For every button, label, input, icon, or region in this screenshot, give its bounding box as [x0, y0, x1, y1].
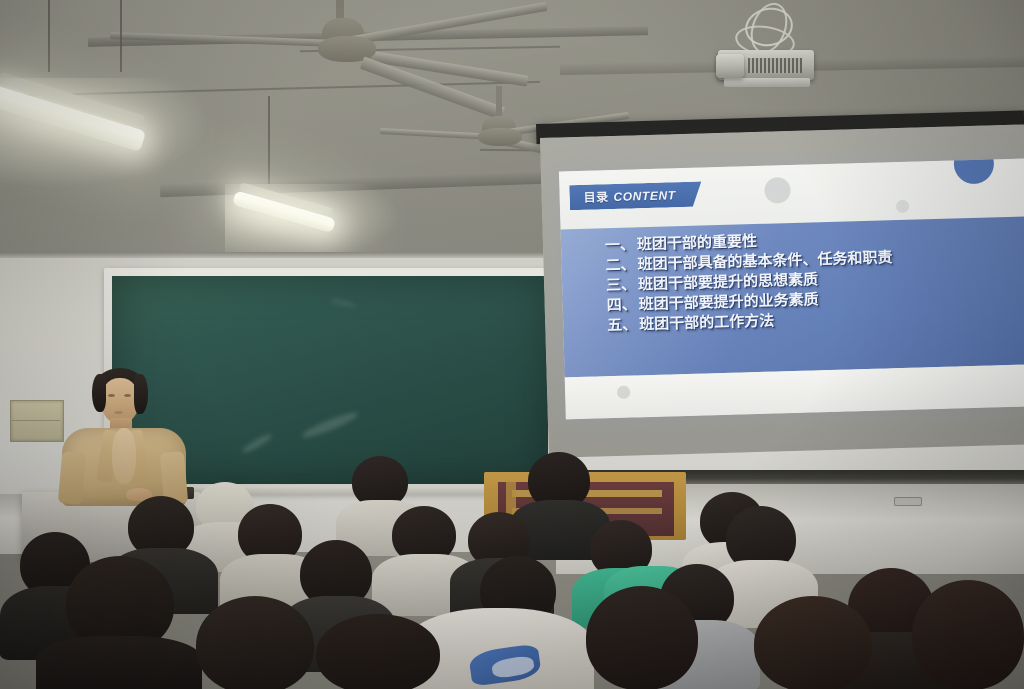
- slide-item-number: 五、: [607, 315, 638, 336]
- lecturer-mouth: [114, 411, 123, 414]
- slide-item-text: 班团干部要提升的业务素质: [638, 291, 818, 313]
- slide-item-number: 四、: [606, 295, 637, 316]
- lecturer-arm: [58, 451, 86, 505]
- presentation-slide: 目录 CONTENT 一、班团干部的重要性 二、班团干部具备的基本条件、任务和职…: [559, 158, 1024, 419]
- lecturer-eye: [124, 394, 131, 397]
- wall-vent-mark: [894, 497, 922, 506]
- slide-item-number: 三、: [606, 275, 637, 296]
- slide-tab-label-en: CONTENT: [613, 188, 676, 204]
- slide-section-tab: 目录 CONTENT: [569, 182, 702, 211]
- slide-content-list: 一、班团干部的重要性 二、班团干部具备的基本条件、任务和职责 三、班团干部要提升…: [561, 216, 1024, 337]
- slide-item-text: 班团干部的重要性: [637, 233, 757, 253]
- slide-item-number: 一、: [605, 235, 636, 256]
- lecturer-hair-side: [134, 374, 148, 414]
- lecturer-hair-side: [92, 374, 106, 412]
- lecturer-eye: [108, 394, 115, 397]
- slide-item-text: 班团干部的工作方法: [639, 312, 774, 333]
- slide-tab-label-cn: 目录: [583, 188, 608, 206]
- slide-item-text: 班团干部要提升的思想素质: [638, 271, 818, 293]
- lecturer-scarf: [112, 428, 136, 484]
- projection-screen: 目录 CONTENT 一、班团干部的重要性 二、班团干部具备的基本条件、任务和职…: [540, 124, 1024, 457]
- slide-item-number: 二、: [605, 255, 636, 276]
- classroom-photo: 目录 CONTENT 一、班团干部的重要性 二、班团干部具备的基本条件、任务和职…: [0, 0, 1024, 689]
- slide-content-panel: 一、班团干部的重要性 二、班团干部具备的基本条件、任务和职责 三、班团干部要提升…: [561, 216, 1024, 377]
